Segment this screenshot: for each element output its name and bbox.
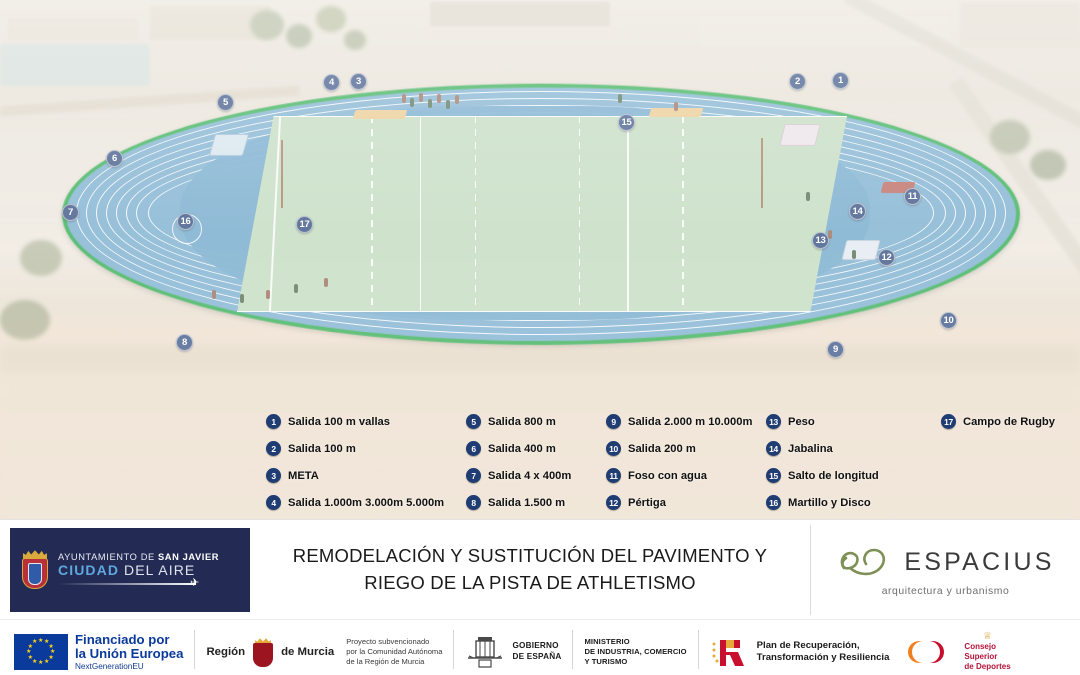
page-title-line-1: REMODELACIÓN Y SUSTITUCIÓN DEL PAVIMENTO…: [264, 543, 796, 570]
logo-line-slogan: CIUDAD DEL AIRE: [58, 562, 219, 578]
pin-martillo-y-disco[interactable]: 16: [177, 213, 194, 230]
legend-column-1: 1Salida 100 m vallas2Salida 100 m3META4S…: [266, 414, 466, 510]
legend-item: 17Campo de Rugby: [941, 414, 1080, 429]
pin-pertiga[interactable]: 12: [878, 249, 895, 266]
legend-label: Salida 100 m vallas: [288, 416, 390, 428]
ministerio-line-1: MINISTERIO: [584, 637, 686, 647]
legend-item: 9Salida 2.000 m 10.000m: [606, 414, 766, 429]
pin-meta[interactable]: 3: [350, 73, 367, 90]
legend-label: Peso: [788, 416, 815, 428]
logo-line-municipality: AYUNTAMIENTO DE SAN JAVIER: [58, 552, 219, 563]
legend: 1Salida 100 m vallas2Salida 100 m3META4S…: [0, 405, 1080, 519]
divider: [453, 630, 454, 669]
legend-item: 6Salida 400 m: [466, 441, 606, 456]
start-sandpit-west: [353, 110, 408, 119]
legend-badge: 15: [766, 468, 781, 483]
prtr-logo: Plan de Recuperación, Transformación y R…: [710, 620, 890, 675]
legend-item: 16Martillo y Disco: [766, 495, 941, 510]
subsidy-note: Proyecto subvencionado por la Comunidad …: [346, 620, 442, 675]
pin-salida-200[interactable]: 10: [940, 312, 957, 329]
pin-salida-4x400[interactable]: 7: [62, 204, 79, 221]
divider: [194, 630, 195, 669]
eu-star-icon: ★: [28, 655, 33, 661]
legend-item: 2Salida 100 m: [266, 441, 466, 456]
legend-column-5: 17Campo de Rugby: [941, 414, 1080, 510]
legend-badge: 13: [766, 414, 781, 429]
csd-mark-icon: [899, 635, 957, 669]
legend-badge: 6: [466, 441, 481, 456]
espacius-logo: ESPACIUS arquitectura y urbanismo: [810, 525, 1080, 615]
csd-line-1: Consejo: [964, 642, 1010, 652]
airplane-icon: ✈: [58, 580, 219, 587]
prtr-line-1: Plan de Recuperación,: [757, 640, 890, 652]
eu-funding-logo: ★★★★★★★★★★★★ Financiado por la Unión Eur…: [0, 620, 183, 675]
pin-salida-100-vallas[interactable]: 1: [832, 72, 849, 89]
legend-badge: 3: [266, 468, 281, 483]
legend-badge: 9: [606, 414, 621, 429]
espacius-monogram-icon: [836, 542, 898, 582]
ayuntamiento-san-javier-logo: AYUNTAMIENTO DE SAN JAVIER CIUDAD DEL AI…: [10, 528, 250, 612]
legend-column-4: 13Peso14Jabalina15Salto de longitud16Mar…: [766, 414, 941, 510]
rugby-post-left: [281, 140, 283, 208]
high-jump-mat: [209, 134, 249, 156]
legend-label: Salto de longitud: [788, 470, 879, 482]
european-union-flag-icon: ★★★★★★★★★★★★: [14, 634, 68, 670]
rugby-pitch: [237, 116, 847, 312]
csd-logo: ♕ Consejo Superior de Deportes: [899, 620, 1010, 675]
pin-salida-2000-10000[interactable]: 9: [827, 341, 844, 358]
pin-salida-800[interactable]: 5: [217, 94, 234, 111]
ministerio-line-3: Y TURISMO: [584, 657, 686, 667]
legend-badge: 4: [266, 495, 281, 510]
csd-crown-icon: ♕: [964, 632, 1010, 642]
pin-salida-1000-3000-5000[interactable]: 4: [323, 74, 340, 91]
pin-campo-de-rugby[interactable]: 17: [296, 216, 313, 233]
legend-item: 1Salida 100 m vallas: [266, 414, 466, 429]
pole-vault-landing: [842, 240, 881, 260]
legend-badge: 8: [466, 495, 481, 510]
csd-line-3: de Deportes: [964, 662, 1010, 672]
espacius-tagline: arquitectura y urbanismo: [882, 586, 1010, 597]
legend-item: 14Jabalina: [766, 441, 941, 456]
legend-badge: 14: [766, 441, 781, 456]
legend-badge: 12: [606, 495, 621, 510]
gobierno-line-2: DE ESPAÑA: [512, 652, 561, 663]
csd-line-2: Superior: [964, 652, 1010, 662]
spain-coat-of-arms-icon: [465, 634, 505, 670]
legend-label: Salida 2.000 m 10.000m: [628, 416, 752, 428]
espacius-wordmark: ESPACIUS: [904, 548, 1054, 577]
pin-foso-con-agua[interactable]: 11: [904, 188, 921, 205]
eu-star-icon: ★: [38, 638, 43, 644]
eu-funding-line-3: NextGenerationEU: [75, 662, 183, 671]
legend-label: Foso con agua: [628, 470, 707, 482]
pin-peso[interactable]: 13: [812, 232, 829, 249]
pin-salida-100[interactable]: 2: [789, 73, 806, 90]
page-title: REMODELACIÓN Y SUSTITUCIÓN DEL PAVIMENTO…: [250, 543, 810, 597]
legend-badge: 2: [266, 441, 281, 456]
eu-star-icon: ★: [44, 659, 49, 665]
divider: [572, 630, 573, 669]
pole-vault-mat: [779, 124, 820, 146]
funding-banner: ★★★★★★★★★★★★ Financiado por la Unión Eur…: [0, 619, 1080, 675]
divider: [698, 630, 699, 669]
legend-item: 5Salida 800 m: [466, 414, 606, 429]
legend-item: 8Salida 1.500 m: [466, 495, 606, 510]
legend-badge: 17: [941, 414, 956, 429]
legend-badge: 16: [766, 495, 781, 510]
title-bar: AYUNTAMIENTO DE SAN JAVIER CIUDAD DEL AI…: [0, 519, 1080, 619]
region-de-murcia-logo: Región de Murcia: [206, 620, 334, 675]
legend-label: Campo de Rugby: [963, 416, 1055, 428]
prtr-line-2: Transformación y Resiliencia: [757, 652, 890, 664]
pin-salida-400[interactable]: 6: [106, 150, 123, 167]
legend-item: 13Peso: [766, 414, 941, 429]
legend-item: 7Salida 4 x 400m: [466, 468, 606, 483]
page-title-line-2: RIEGO DE LA PISTA DE ATHLETISMO: [264, 570, 796, 597]
rugby-post-right: [761, 138, 763, 208]
legend-label: Salida 1.500 m: [488, 497, 565, 509]
legend-label: Pértiga: [628, 497, 666, 509]
eu-star-icon: ★: [32, 639, 37, 645]
pin-salida-1500[interactable]: 8: [176, 334, 193, 351]
ministerio-logo: MINISTERIO DE INDUSTRIA, COMERCIO Y TURI…: [584, 620, 686, 675]
legend-column-2: 5Salida 800 m6Salida 400 m7Salida 4 x 40…: [466, 414, 606, 510]
athletics-track: [62, 82, 1020, 344]
eu-star-icon: ★: [38, 660, 43, 666]
legend-badge: 11: [606, 468, 621, 483]
legend-badge: 1: [266, 414, 281, 429]
subsidy-line-1: Proyecto subvencionado: [346, 637, 442, 647]
legend-label: Salida 200 m: [628, 443, 696, 455]
prtr-mark-icon: [710, 634, 750, 670]
legend-badge: 7: [466, 468, 481, 483]
legend-label: Salida 400 m: [488, 443, 556, 455]
legend-label: Martillo y Disco: [788, 497, 871, 509]
eu-star-icon: ★: [26, 649, 31, 655]
legend-label: META: [288, 470, 319, 482]
pin-salto-de-longitud[interactable]: 15: [618, 114, 635, 131]
legend-column-3: 9Salida 2.000 m 10.000m10Salida 200 m11F…: [606, 414, 766, 510]
legend-label: Salida 100 m: [288, 443, 356, 455]
subsidy-line-3: de la Región de Murcia: [346, 657, 442, 667]
legend-item: 4Salida 1.000m 3.000m 5.000m: [266, 495, 466, 510]
gobierno-de-espana-logo: GOBIERNO DE ESPAÑA: [465, 620, 561, 675]
legend-label: Salida 800 m: [488, 416, 556, 428]
legend-item: 3META: [266, 468, 466, 483]
legend-item: 11Foso con agua: [606, 468, 766, 483]
legend-label: Salida 4 x 400m: [488, 470, 571, 482]
legend-badge: 5: [466, 414, 481, 429]
pin-jabalina[interactable]: 14: [849, 203, 866, 220]
legend-label: Jabalina: [788, 443, 833, 455]
gobierno-line-1: GOBIERNO: [512, 641, 561, 652]
legend-badge: 10: [606, 441, 621, 456]
legend-item: 12Pértiga: [606, 495, 766, 510]
murcia-coat-of-arms-icon: [252, 637, 274, 667]
legend-label: Salida 1.000m 3.000m 5.000m: [288, 497, 444, 509]
subsidy-line-2: por la Comunidad Autónoma: [346, 647, 442, 657]
san-javier-coat-of-arms-icon: [20, 550, 50, 590]
ministerio-line-2: DE INDUSTRIA, COMERCIO: [584, 647, 686, 657]
murcia-pre-label: Región: [206, 646, 245, 658]
legend-item: 15Salto de longitud: [766, 468, 941, 483]
murcia-post-label: de Murcia: [281, 646, 334, 658]
eu-funding-line-2: la Unión Europea: [75, 646, 183, 661]
legend-item: 10Salida 200 m: [606, 441, 766, 456]
eu-funding-line-1: Financiado por: [75, 632, 170, 647]
